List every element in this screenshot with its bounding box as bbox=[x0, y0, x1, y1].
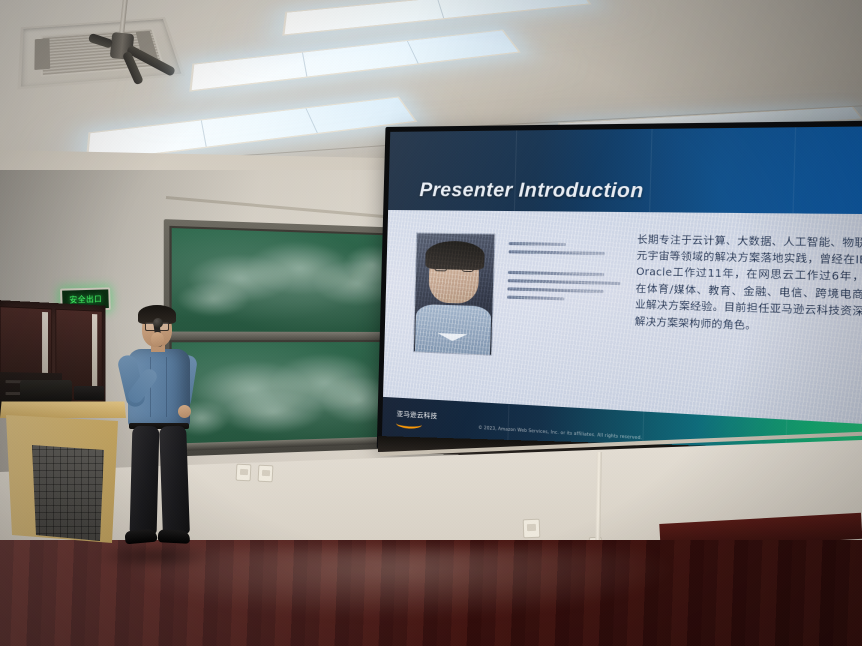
presenter-hand-right bbox=[178, 405, 191, 418]
podium-top-surface bbox=[0, 401, 126, 418]
slide-copyright: © 2023, Amazon Web Services, Inc. or its… bbox=[478, 424, 642, 439]
podium-speaker-grille bbox=[32, 445, 104, 541]
podium-equipment[interactable] bbox=[74, 386, 104, 400]
presenter-affiliation-line bbox=[507, 279, 620, 285]
presenter-photo-body bbox=[415, 304, 491, 354]
presenter-affiliation-line bbox=[507, 287, 604, 293]
lecture-hall-photo: 安全出口 bbox=[0, 0, 862, 646]
slide-body-paragraph: 长期专注于云计算、大数据、人工智能、物联网、元宇宙等领域的解决方案落地实践，曾经… bbox=[634, 232, 862, 339]
slide-content: Presenter Introduction bbox=[382, 126, 862, 480]
chalk-smudge bbox=[221, 389, 325, 436]
podium-front-panel bbox=[6, 415, 118, 543]
shirt-fold bbox=[166, 357, 167, 417]
presenter-title-line bbox=[508, 250, 605, 255]
door-glass-panel bbox=[92, 314, 97, 387]
presenter-photo-collar bbox=[437, 333, 467, 342]
slide-body: 长期专注于云计算、大数据、人工智能、物联网、元宇宙等领域的解决方案落地实践，曾经… bbox=[383, 210, 862, 427]
wall-outlet[interactable] bbox=[258, 465, 274, 483]
presenter-legs bbox=[130, 426, 190, 538]
presenter-name-line bbox=[508, 242, 566, 246]
wall-outlet[interactable] bbox=[523, 519, 541, 539]
presenter-leg-right bbox=[159, 426, 190, 535]
aws-logo: 亚马逊云科技 bbox=[396, 407, 464, 431]
presenter-shoe-left bbox=[124, 529, 157, 545]
presenter-photo bbox=[413, 233, 496, 355]
presenter-hand-left bbox=[151, 332, 164, 347]
slide-header-band: Presenter Introduction bbox=[388, 126, 862, 215]
presenter-affiliation-line bbox=[507, 295, 565, 300]
presenter-leg-left bbox=[130, 426, 160, 535]
led-presentation-screen: Presenter Introduction bbox=[382, 126, 862, 480]
presenter bbox=[110, 305, 206, 555]
podium-av-console[interactable] bbox=[20, 380, 72, 402]
presenter-photo-hair bbox=[425, 241, 485, 271]
microphone-head-icon bbox=[153, 318, 163, 328]
lectern-podium[interactable] bbox=[0, 398, 126, 548]
slide-title: Presenter Introduction bbox=[419, 180, 644, 204]
aws-smile-icon bbox=[396, 418, 422, 429]
wall-outlet[interactable] bbox=[236, 464, 252, 482]
presenter-name-block bbox=[507, 242, 622, 307]
presenter-shoe-right bbox=[158, 529, 191, 544]
